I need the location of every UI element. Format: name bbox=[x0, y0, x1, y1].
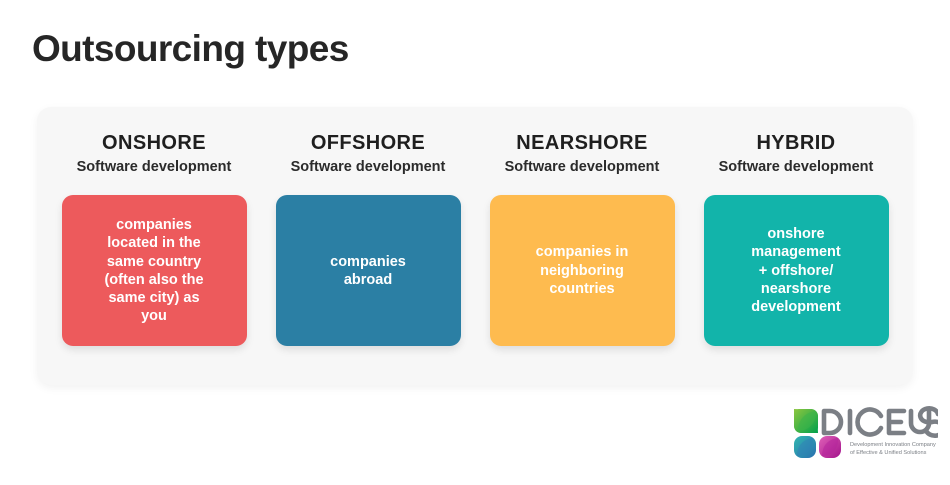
column-title-offshore: OFFSHORE bbox=[311, 132, 425, 155]
column-title-hybrid: HYBRID bbox=[756, 132, 835, 155]
column-subtitle-onshore: Software development bbox=[77, 159, 232, 176]
outsourcing-types-panel: ONSHORE Software development companies l… bbox=[37, 107, 913, 385]
column-subtitle-hybrid: Software development bbox=[719, 159, 874, 176]
page-title: Outsourcing types bbox=[32, 28, 349, 71]
card-text-hybrid: onshore management + offshore/ nearshore… bbox=[751, 225, 840, 316]
column-subtitle-nearshore: Software development bbox=[505, 159, 660, 176]
column-subtitle-offshore: Software development bbox=[291, 159, 446, 176]
card-offshore[interactable]: companies abroad bbox=[276, 195, 461, 346]
columns-container: ONSHORE Software development companies l… bbox=[37, 107, 913, 385]
diceus-logo: Development Innovation Company of Effect… bbox=[792, 406, 938, 460]
card-text-nearshore: companies in neighboring countries bbox=[536, 243, 629, 298]
card-onshore[interactable]: companies located in the same country (o… bbox=[62, 195, 247, 346]
column-title-onshore: ONSHORE bbox=[102, 132, 206, 155]
column-nearshore: NEARSHORE Software development companies… bbox=[475, 107, 689, 346]
card-hybrid[interactable]: onshore management + offshore/ nearshore… bbox=[704, 195, 889, 346]
logo-wordmark bbox=[824, 408, 938, 435]
column-title-nearshore: NEARSHORE bbox=[516, 132, 647, 155]
column-hybrid: HYBRID Software development onshore mana… bbox=[689, 107, 903, 346]
column-onshore: ONSHORE Software development companies l… bbox=[47, 107, 261, 346]
logo-tagline-line1: Development Innovation Company bbox=[850, 442, 936, 448]
card-text-offshore: companies abroad bbox=[330, 253, 406, 290]
card-text-onshore: companies located in the same country (o… bbox=[104, 216, 203, 326]
column-offshore: OFFSHORE Software development companies … bbox=[261, 107, 475, 346]
logo-tagline-line2: of Effective & Unified Solutions bbox=[850, 450, 927, 456]
card-nearshore[interactable]: companies in neighboring countries bbox=[490, 195, 675, 346]
